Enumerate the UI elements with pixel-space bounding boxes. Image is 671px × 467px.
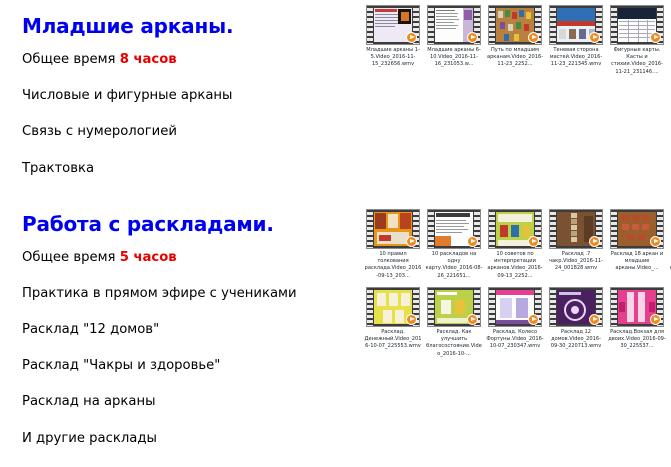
video-filename: Расклад. Колесо Фортуны.Video_2016-10-07… (486, 329, 544, 351)
video-file-icon[interactable] (549, 5, 603, 45)
video-filename: Путь по младшим арканам.Video_2016-11-23… (486, 47, 544, 69)
line-text: Связь с нумерологией (22, 124, 177, 139)
outline-line: Расклад "Чакры и здоровье" (22, 358, 360, 373)
video-thumbnail-item[interactable]: Расклад. Как улучшить благосостояние.Vid… (424, 284, 484, 360)
section-minor-arcana: Младшие арканы. Общее время 8 часов Числ… (18, 14, 360, 176)
line-accent: 8 часов (120, 52, 177, 67)
outline-line: Связь с нумерологией (22, 124, 360, 139)
line-text: Числовые и фигурные арканы (22, 88, 232, 103)
outline-line: Общее время 5 часов (22, 250, 360, 265)
video-file-icon[interactable] (610, 5, 664, 45)
video-file-icon[interactable] (366, 209, 420, 249)
thumbnail-panel-arcana: Младшие арканы 1-5.Video_2016-11-15_2326… (363, 2, 669, 78)
play-icon (650, 314, 661, 325)
video-file-icon[interactable] (427, 209, 481, 249)
video-thumbnail-item[interactable]: Теневая сторона мастей.Video_2016-11-23_… (546, 2, 606, 71)
line-text: Расклад "Чакры и здоровье" (22, 358, 220, 373)
line-text: Расклад на арканы (22, 394, 156, 409)
play-icon (650, 32, 661, 43)
video-filename: Расклад.Вокзал для двоих.Video_2016-09-3… (608, 329, 666, 351)
play-icon (406, 236, 417, 247)
outline-line: Практика в прямом эфире с учениками (22, 286, 360, 301)
video-file-icon[interactable] (610, 287, 664, 327)
video-thumbnail-item[interactable]: Расклад .7 чакр.Video_2016-11-24_001828.… (546, 206, 606, 275)
video-file-icon[interactable] (549, 209, 603, 249)
line-text: Практика в прямом эфире с учениками (22, 286, 297, 301)
play-icon (650, 236, 661, 247)
outline-line: Числовые и фигурные арканы (22, 88, 360, 103)
line-text: Общее время (22, 250, 120, 265)
thumbnail-row: 10 правил толкования расклада.Video_2016… (363, 206, 669, 282)
outline-line: Трактовка (22, 161, 360, 176)
outline-line: И другие расклады (22, 431, 360, 446)
play-icon (589, 236, 600, 247)
section-layouts: Работа с раскладами. Общее время 5 часов… (18, 212, 360, 446)
play-icon (589, 32, 600, 43)
outline-line: Расклад "12 домов" (22, 322, 360, 337)
play-icon (528, 236, 539, 247)
video-filename: Фигурные карты. Касты и стихии.Video_201… (608, 47, 666, 76)
play-icon (467, 236, 478, 247)
thumbnail-row: Расклад. Денежный.Video_2016-10-07_22555… (363, 284, 669, 360)
video-file-icon[interactable] (427, 5, 481, 45)
play-icon (467, 32, 478, 43)
outline-line: Общее время 8 часов (22, 52, 360, 67)
video-file-icon[interactable] (549, 287, 603, 327)
video-filename: 10 советов по интерпретации арканов.Vide… (486, 251, 544, 280)
video-filename: Теневая сторона мастей.Video_2016-11-23_… (547, 47, 605, 69)
play-icon (406, 32, 417, 43)
line-text: Общее время (22, 52, 120, 67)
video-thumbnail-item[interactable]: Путь по младшим арканам.Video_2016-11-23… (485, 2, 545, 71)
play-icon (528, 314, 539, 325)
thumbnail-row: Младшие арканы 1-5.Video_2016-11-15_2326… (363, 2, 669, 78)
line-accent: 5 часов (120, 250, 177, 265)
video-file-icon[interactable] (366, 5, 420, 45)
line-text: Расклад "12 домов" (22, 322, 159, 337)
section-title-minor-arcana: Младшие арканы. (22, 14, 360, 38)
video-thumbnail-item[interactable]: Фигурные карты. Касты и стихии.Video_201… (607, 2, 667, 78)
video-file-icon[interactable] (488, 5, 542, 45)
line-text: Трактовка (22, 161, 94, 176)
video-file-icon[interactable] (366, 287, 420, 327)
video-thumbnail-item[interactable]: 10 советов по интерпретации арканов.Vide… (485, 206, 545, 282)
course-outline: Младшие арканы. Общее время 8 часов Числ… (0, 0, 360, 467)
video-filename: Расклад .7 чакр.Video_2016-11-24_001828.… (547, 251, 605, 273)
play-icon (406, 314, 417, 325)
video-thumbnail-item[interactable]: 10 правил толкования расклада.Video_2016… (363, 206, 423, 282)
video-thumbnail-item[interactable]: Младшие арканы 6-10.Video_2016-11-16_231… (424, 2, 484, 71)
video-thumbnail-item[interactable]: Расклад. Денежный.Video_2016-10-07_22555… (363, 284, 423, 353)
video-thumbnail-item[interactable]: Младшие арканы 1-5.Video_2016-11-15_2326… (363, 2, 423, 71)
video-filename: Младшие арканы 6-10.Video_2016-11-16_231… (425, 47, 483, 69)
video-filename: Расклад 12 домов.Video_2016-09-30_220713… (547, 329, 605, 351)
video-thumbnail-item[interactable]: Расклад 18 аркан и младшие арканы.Video_… (607, 206, 667, 275)
video-thumbnail-item[interactable]: Расклад. Колесо Фортуны.Video_2016-10-07… (485, 284, 545, 353)
video-thumbnail-item[interactable]: Расклад 12 домов.Video_2016-09-30_220713… (546, 284, 606, 353)
video-filename: Расклад. Как улучшить благосостояние.Vid… (425, 329, 483, 358)
thumbnail-panel-layouts: 10 правил толкования расклада.Video_2016… (363, 206, 669, 360)
video-filename: Расклад 18 аркан и младшие арканы.Video_… (608, 251, 666, 273)
section-title-layouts: Работа с раскладами. (22, 212, 360, 236)
video-file-icon[interactable] (610, 209, 664, 249)
line-text: И другие расклады (22, 431, 157, 446)
video-thumbnail-item[interactable]: Расклад.Вокзал для двоих.Video_2016-09-3… (607, 284, 667, 353)
outline-line: Расклад на арканы (22, 394, 360, 409)
video-thumbnail-item[interactable]: 10 раскладов на одну карту.Video_2016-08… (424, 206, 484, 282)
video-filename: Младшие арканы 1-5.Video_2016-11-15_2326… (364, 47, 422, 69)
video-filename: Расклад. Денежный.Video_2016-10-07_22555… (364, 329, 422, 351)
video-file-icon[interactable] (488, 209, 542, 249)
play-icon (467, 314, 478, 325)
video-filename: 10 правил толкования расклада.Video_2016… (364, 251, 422, 280)
video-file-icon[interactable] (427, 287, 481, 327)
play-icon (528, 32, 539, 43)
play-icon (589, 314, 600, 325)
video-file-icon[interactable] (488, 287, 542, 327)
video-filename: 10 раскладов на одну карту.Video_2016-08… (425, 251, 483, 280)
